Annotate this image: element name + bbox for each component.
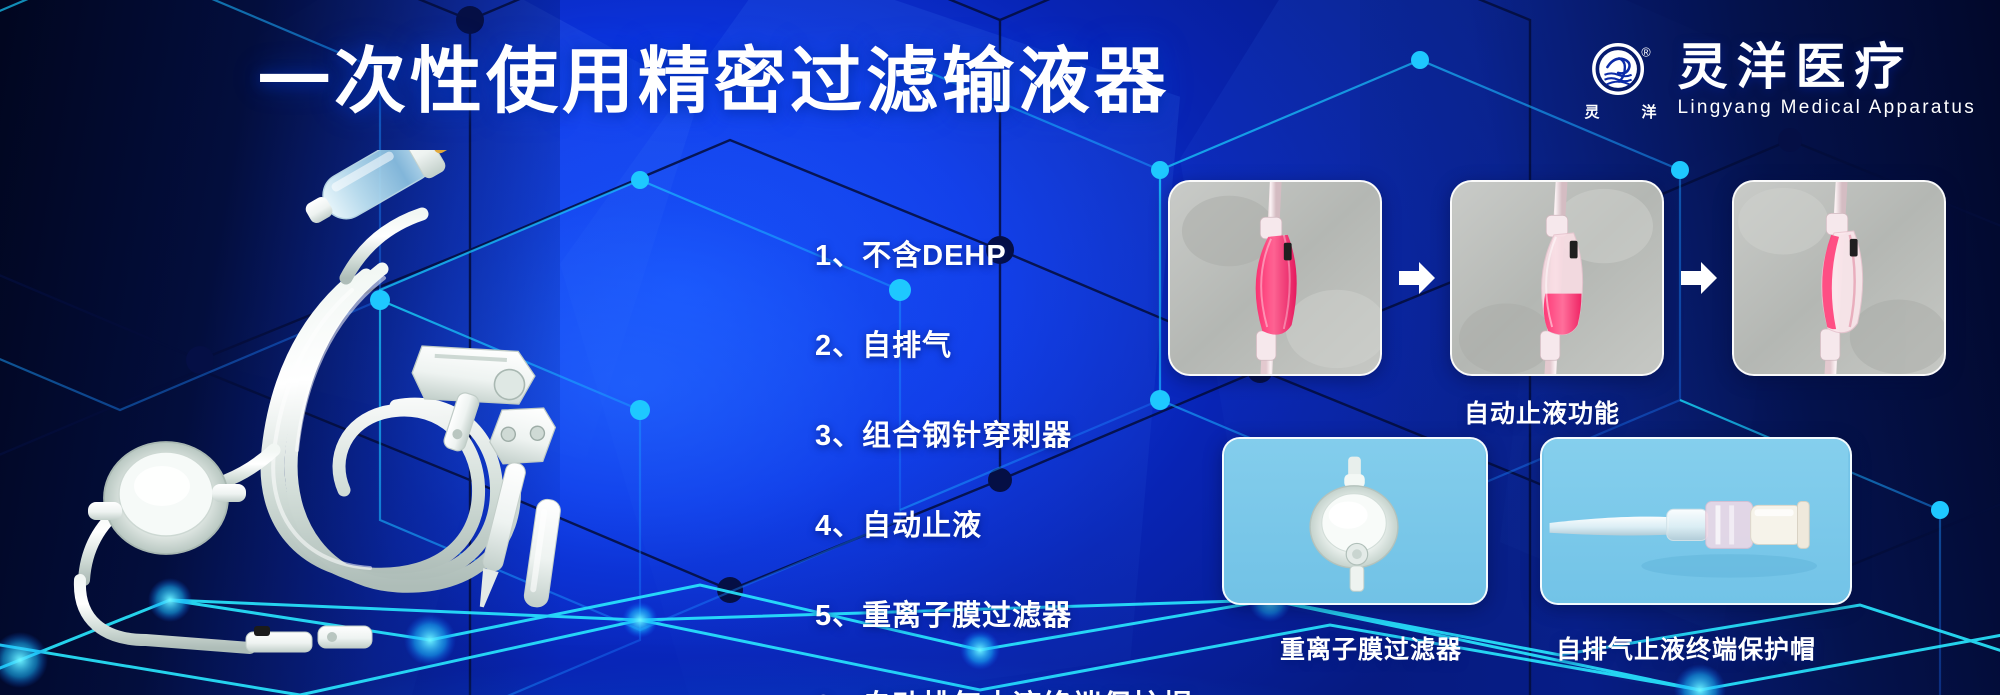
- brand-sub-left: 灵: [1584, 101, 1599, 122]
- right-arrow-icon: [1675, 255, 1721, 301]
- feature-item: 3、组合钢针穿刺器: [815, 412, 1192, 454]
- brand-lockup: ® 灵 洋 灵洋医疗 Lingyang Medical Apparatus: [1581, 38, 1976, 122]
- feature-item: 1、不含DEHP: [815, 232, 1192, 274]
- auto-stop-photo-3: [1732, 180, 1946, 376]
- brand-mark: ® 灵 洋: [1581, 38, 1659, 122]
- feature-item: 5、重离子膜过滤器: [815, 592, 1192, 634]
- protective-cap-component-photo: [1540, 437, 1852, 605]
- product-banner: 一次性使用精密过滤输液器 ® 灵 洋 灵洋: [0, 0, 2000, 695]
- protective-cap-caption: 自排气止液终端保护帽: [1556, 630, 1816, 666]
- auto-stop-photo-2: [1450, 180, 1664, 376]
- lingyang-circular-emblem-icon: ®: [1589, 38, 1651, 100]
- auto-stop-caption: 自动止液功能: [1464, 394, 1620, 430]
- component-photo-row: [1222, 437, 1852, 605]
- brand-sub-right: 洋: [1641, 101, 1656, 122]
- banner-title: 一次性使用精密过滤输液器: [258, 46, 1170, 118]
- svg-text:®: ®: [1642, 45, 1652, 59]
- right-arrow-icon: [1393, 255, 1439, 301]
- brand-name-cn: 灵洋医疗: [1677, 41, 1976, 94]
- filter-component-photo: [1222, 437, 1488, 605]
- brand-name-en: Lingyang Medical Apparatus: [1677, 97, 1976, 119]
- auto-stop-photo-1: [1168, 180, 1382, 376]
- filter-caption: 重离子膜过滤器: [1280, 630, 1462, 666]
- auto-stop-photo-sequence: [1168, 180, 1946, 376]
- feature-item: 4、自动止液: [815, 502, 1192, 544]
- feature-item: 2、自排气: [815, 322, 1192, 364]
- brand-sub-characters: 灵 洋: [1584, 101, 1656, 122]
- feature-list: 1、不含DEHP 2、自排气 3、组合钢针穿刺器 4、自动止液 5、重离子膜过滤…: [815, 232, 1192, 695]
- feature-item: 6、自动排气止液终端保护帽: [815, 682, 1192, 695]
- hero-product-photo: [50, 150, 770, 670]
- brand-name-block: 灵洋医疗 Lingyang Medical Apparatus: [1677, 41, 1976, 119]
